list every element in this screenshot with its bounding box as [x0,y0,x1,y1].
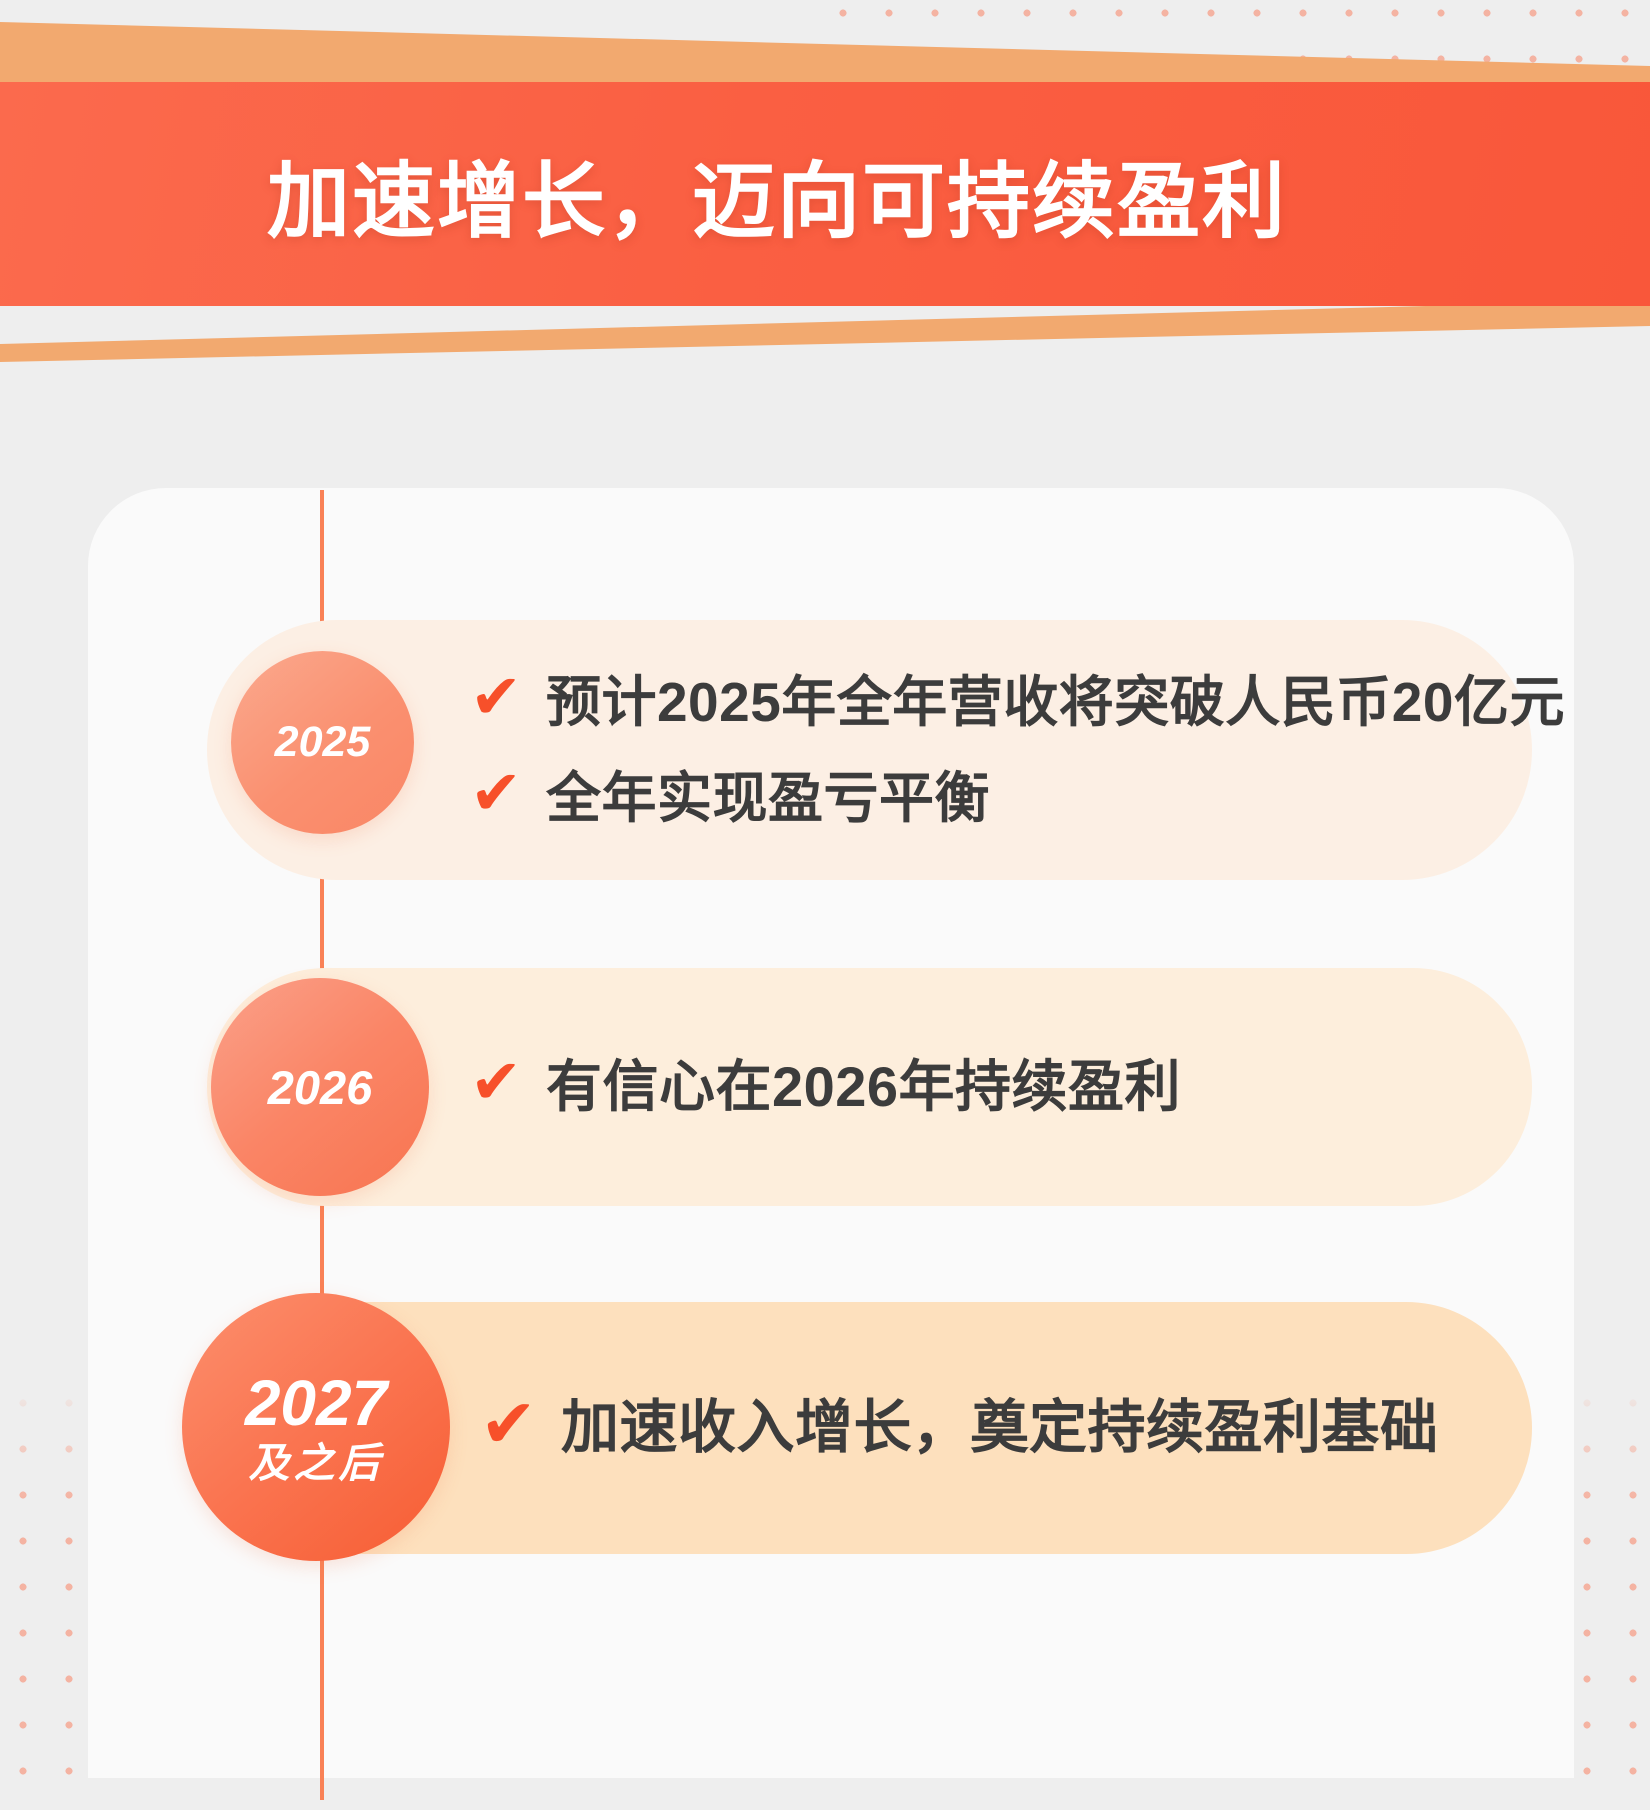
check-icon: ✔ [480,1390,537,1458]
list-item: ✔ 预计2025年全年营收将突破人民币20亿元 [470,671,1565,733]
page-title: 加速增长，迈向可持续盈利 [267,134,1287,254]
bullet-text: 全年实现盈亏平衡 [546,771,990,826]
header-banner: 加速增长，迈向可持续盈利 [0,82,1650,306]
bullet-list-2026: ✔ 有信心在2026年持续盈利 [470,968,1181,1206]
bullet-text: 有信心在2026年持续盈利 [546,1059,1181,1115]
year-marker-2026[interactable]: 2026 [211,978,429,1196]
year-label: 2027 [245,1371,387,1435]
year-label: 2025 [275,721,371,764]
bullet-list-2027: ✔ 加速收入增长，奠定持续盈利基础 [480,1302,1439,1554]
decorative-wedge-bottom [0,300,1650,362]
check-icon: ✔ [470,1052,522,1114]
check-icon: ✔ [470,763,522,825]
year-marker-2025[interactable]: 2025 [231,651,414,834]
year-label: 2026 [268,1064,373,1111]
list-item: ✔ 加速收入增长，奠定持续盈利基础 [480,1394,1439,1462]
year-sublabel: 及之后 [249,1443,384,1484]
bullet-text: 预计2025年全年营收将突破人民币20亿元 [546,675,1565,730]
year-marker-2027[interactable]: 2027 及之后 [182,1293,450,1561]
bullet-text: 加速收入增长，奠定持续盈利基础 [561,1399,1439,1457]
list-item: ✔ 有信心在2026年持续盈利 [470,1056,1181,1118]
decorative-wedge-top [0,0,1650,90]
list-item: ✔ 全年实现盈亏平衡 [470,767,1565,829]
bullet-list-2025: ✔ 预计2025年全年营收将突破人民币20亿元 ✔ 全年实现盈亏平衡 [470,620,1565,880]
check-icon: ✔ [470,667,522,729]
